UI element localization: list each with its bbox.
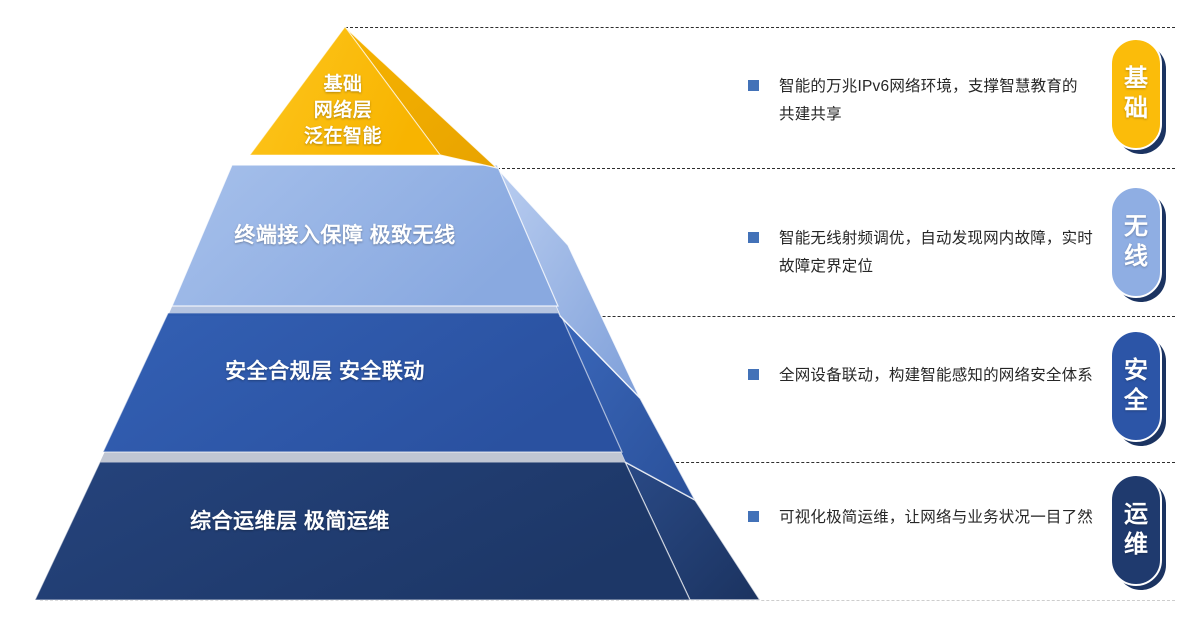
pill-label-operations: 运维 — [1124, 500, 1148, 560]
bullet-item-wireless: 智能无线射频调优，自动发现网内故障，实时故障定界定位 — [748, 225, 1093, 281]
bullet-item-foundation: 智能的万兆IPv6网络环境，支撑智慧教育的共建共享 — [748, 73, 1093, 129]
tier2-front-face — [172, 165, 558, 306]
pill-badge-column: 基础 无线 安全 运维 — [1110, 0, 1200, 620]
bullet-list: 智能的万兆IPv6网络环境，支撑智慧教育的共建共享 智能无线射频调优，自动发现网… — [748, 0, 1093, 620]
tier4-front-face — [35, 462, 690, 600]
pill-badge-security: 安全 — [1110, 330, 1162, 442]
bullet-text-security: 全网设备联动，构建智能感知的网络安全体系 — [779, 362, 1093, 390]
square-bullet-icon — [748, 369, 759, 380]
pyramid-graphic — [0, 0, 760, 620]
pill-label-foundation: 基础 — [1124, 64, 1148, 124]
square-bullet-icon — [748, 232, 759, 243]
pill-label-wireless: 无线 — [1124, 212, 1148, 272]
bullet-text-wireless: 智能无线射频调优，自动发现网内故障，实时故障定界定位 — [779, 225, 1093, 281]
pill-badge-foundation: 基础 — [1110, 38, 1162, 150]
slide-canvas: 基础 网络层 泛在智能 终端接入保障 极致无线 安全合规层 安全联动 综合运维层… — [0, 0, 1200, 620]
tier3-front-face — [103, 313, 622, 452]
bullet-item-security: 全网设备联动，构建智能感知的网络安全体系 — [748, 362, 1093, 390]
bullet-item-operations: 可视化极简运维，让网络与业务状况一目了然 — [748, 504, 1093, 532]
pill-badge-wireless: 无线 — [1110, 186, 1162, 298]
bullet-text-foundation: 智能的万兆IPv6网络环境，支撑智慧教育的共建共享 — [779, 73, 1093, 129]
pill-badge-operations: 运维 — [1110, 474, 1162, 586]
square-bullet-icon — [748, 80, 759, 91]
square-bullet-icon — [748, 511, 759, 522]
bullet-text-operations: 可视化极简运维，让网络与业务状况一目了然 — [779, 504, 1093, 532]
pill-label-security: 安全 — [1124, 356, 1148, 416]
